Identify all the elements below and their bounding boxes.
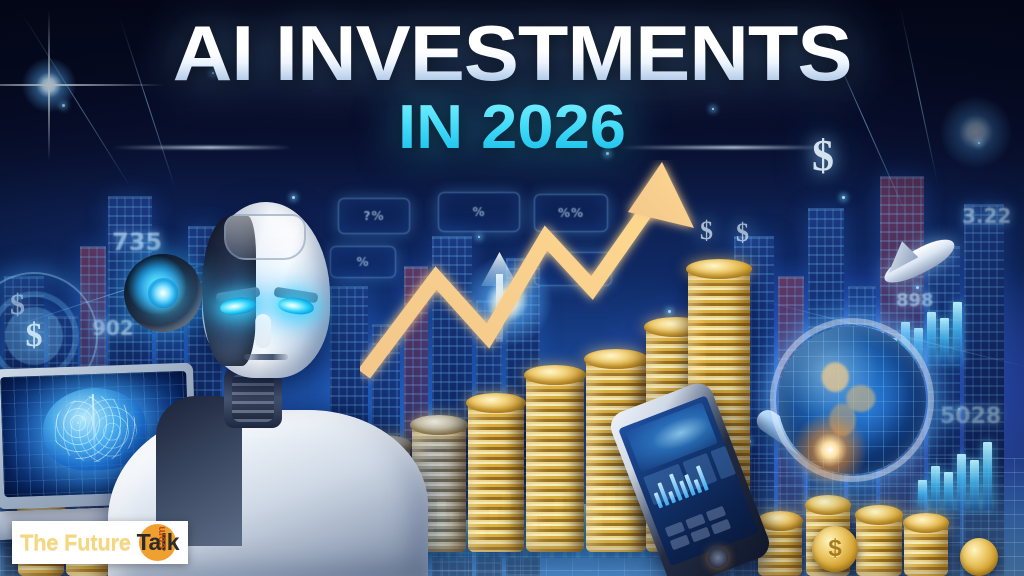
dollar-symbol-icon: $ bbox=[812, 526, 858, 572]
page-title: AI INVESTMENTS bbox=[0, 16, 1024, 91]
title-block: AI INVESTMENTS IN 2026 bbox=[0, 16, 1024, 159]
coin-stack-4 bbox=[526, 374, 584, 552]
robot-figure bbox=[150, 196, 380, 576]
coin-stack-br-4 bbox=[904, 522, 948, 576]
logo-word-the: The bbox=[20, 530, 58, 555]
logo-word-future: Future bbox=[64, 530, 131, 555]
robot-head bbox=[202, 202, 330, 378]
robot-ear-icon bbox=[124, 254, 202, 332]
small-arrow-icon bbox=[478, 252, 522, 349]
thumbnail-canvas: ?% % % %% % 735 902 3.22 5028 898 $ $ $ … bbox=[0, 0, 1024, 576]
loose-coin bbox=[960, 538, 998, 576]
dollar-coin: $ bbox=[812, 526, 858, 572]
dollar-symbol-icon: $ bbox=[700, 216, 713, 246]
coin-stack-br-3 bbox=[856, 514, 902, 576]
logo-word-com: .com bbox=[156, 526, 168, 552]
dollar-symbol-icon: $ bbox=[26, 317, 43, 355]
globe-light-flare bbox=[792, 412, 868, 488]
logo-text-the-future: The Future bbox=[20, 530, 131, 556]
brand-logo[interactable]: The Future Talk .com bbox=[12, 521, 188, 564]
coin-stack-3 bbox=[468, 402, 524, 552]
dollar-symbol-icon: $ bbox=[736, 218, 749, 248]
page-subtitle: IN 2026 bbox=[0, 97, 1024, 159]
bar-chart-right-lower bbox=[918, 440, 992, 510]
